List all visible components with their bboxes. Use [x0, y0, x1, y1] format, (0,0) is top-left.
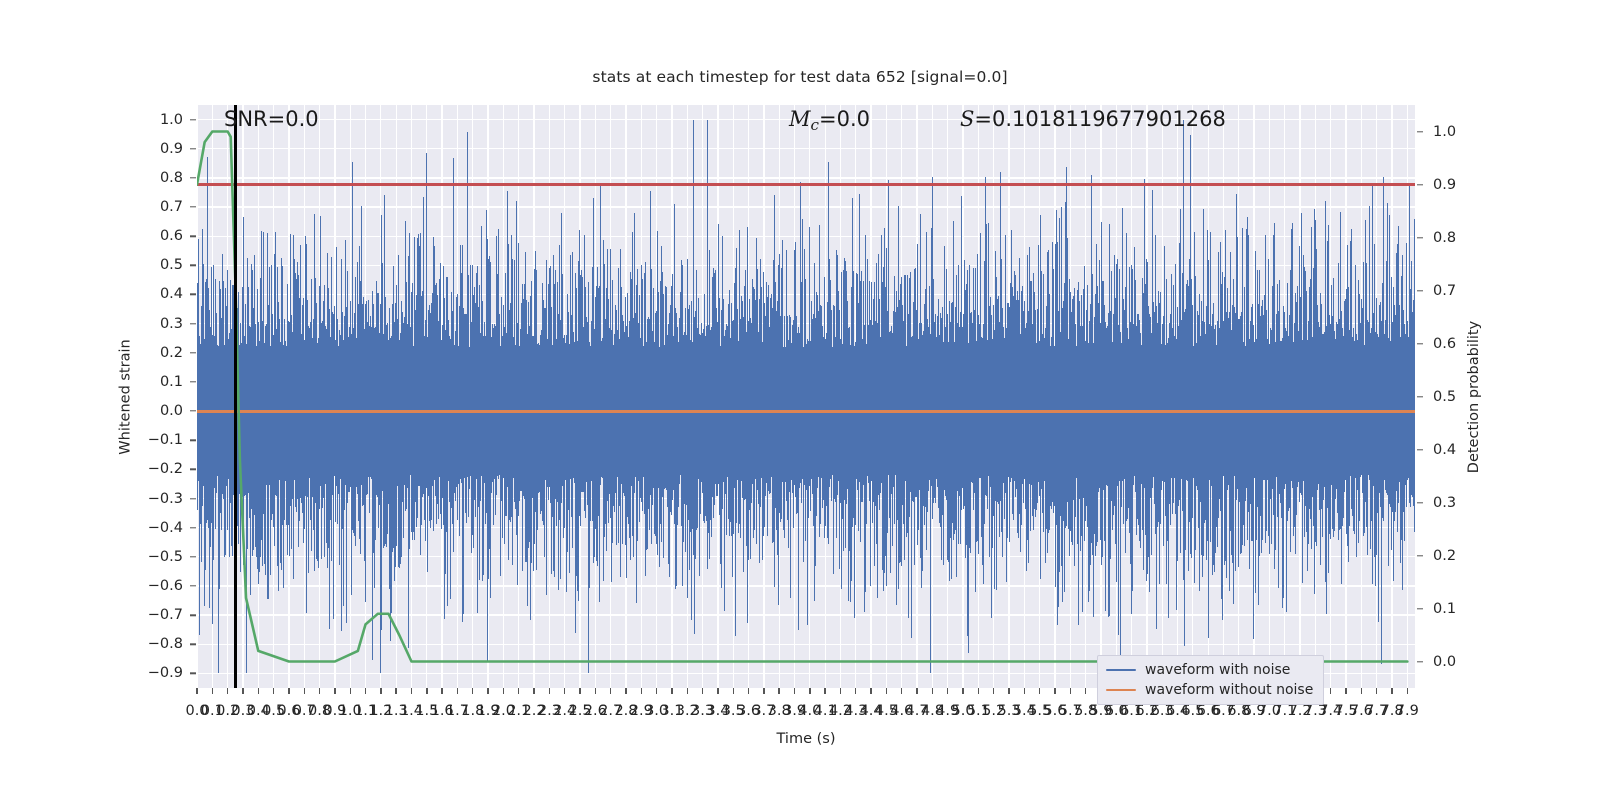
- annotation-snr: SNR=0.0: [224, 107, 319, 131]
- x-axis-tick-mark: [763, 688, 764, 694]
- y-axis-right-tick-label: 0.6: [1433, 336, 1493, 352]
- y-axis-left-tick-label: 0.1: [123, 374, 183, 390]
- x-axis-tick-mark: [947, 688, 948, 694]
- y-axis-left-tick-mark: [190, 206, 196, 207]
- annotation-snr-value: 0.0: [285, 107, 318, 131]
- x-axis-tick-mark: [656, 688, 657, 694]
- y-axis-left-tick-mark: [190, 556, 196, 557]
- y-axis-left-tick-label: −0.3: [123, 491, 183, 507]
- y-axis-left-tick-mark: [190, 119, 196, 120]
- y-axis-right-tick-label: 0.9: [1433, 177, 1493, 193]
- x-axis-tick-mark: [472, 688, 473, 694]
- x-axis-tick-mark: [564, 688, 565, 694]
- x-axis-tick-mark: [870, 688, 871, 694]
- y-axis-right-tick-mark: [1417, 661, 1423, 662]
- x-axis-tick-mark: [625, 688, 626, 694]
- y-axis-left-tick-mark: [190, 148, 196, 149]
- x-axis-tick-mark: [901, 688, 902, 694]
- x-axis-tick-mark: [533, 688, 534, 694]
- y-axis-left-tick-label: 0.7: [123, 199, 183, 215]
- x-axis-tick-mark: [962, 688, 963, 694]
- x-axis-tick-mark: [258, 688, 259, 694]
- y-axis-right-tick-mark: [1417, 290, 1423, 291]
- y-axis-left-tick-mark: [190, 498, 196, 499]
- y-axis-right-tick-label: 0.4: [1433, 442, 1493, 458]
- y-axis-left-tick-mark: [190, 614, 196, 615]
- x-axis-tick-mark: [1330, 688, 1331, 694]
- y-axis-right-tick-mark: [1417, 449, 1423, 450]
- y-axis-left-tick-label: 0.9: [123, 141, 183, 157]
- x-axis-tick-mark: [932, 688, 933, 694]
- plot-area: SNR=0.0 Mc=0.0 S=0.1018119677901268: [197, 105, 1415, 688]
- x-axis-tick-mark: [426, 688, 427, 694]
- y-axis-left-tick-label: −0.6: [123, 578, 183, 594]
- y-axis-left-tick-label: 0.3: [123, 316, 183, 332]
- x-axis-tick-mark: [1376, 688, 1377, 694]
- merger-time-marker-line: [234, 105, 237, 688]
- x-axis-tick-mark: [242, 688, 243, 694]
- x-axis-tick-mark: [993, 688, 994, 694]
- legend-item-label: waveform without noise: [1145, 682, 1313, 698]
- x-axis-tick-mark: [671, 688, 672, 694]
- x-axis-tick-mark: [487, 688, 488, 694]
- y-axis-left-tick-mark: [190, 294, 196, 295]
- page-title: stats at each timestep for test data 652…: [0, 68, 1600, 86]
- legend-item-label: waveform with noise: [1145, 662, 1290, 678]
- annotation-mc-equals: =: [819, 107, 837, 131]
- y-axis-right-tick-label: 0.1: [1433, 601, 1493, 617]
- y-axis-left-tick-mark: [190, 527, 196, 528]
- x-axis-tick-mark: [227, 688, 228, 694]
- legend-item[interactable]: waveform with noise: [1106, 662, 1313, 678]
- legend-item[interactable]: waveform without noise: [1106, 682, 1313, 698]
- x-axis-tick-mark: [610, 688, 611, 694]
- x-axis-tick-mark: [687, 688, 688, 694]
- x-axis-tick-mark: [1024, 688, 1025, 694]
- figure-canvas: stats at each timestep for test data 652…: [0, 0, 1600, 800]
- y-axis-left-tick-label: 1.0: [123, 112, 183, 128]
- y-axis-right-tick-mark: [1417, 131, 1423, 132]
- y-axis-left-tick-label: −0.4: [123, 520, 183, 536]
- x-axis-tick-mark: [595, 688, 596, 694]
- x-axis-tick-mark: [855, 688, 856, 694]
- x-axis-tick-mark: [380, 688, 381, 694]
- y-axis-left-tick-mark: [190, 323, 196, 324]
- annotation-chirp-mass: Mc=0.0: [789, 107, 870, 134]
- annotation-mc-value: 0.0: [837, 107, 870, 131]
- legend-color-swatch: [1106, 689, 1136, 692]
- x-axis-tick-mark: [518, 688, 519, 694]
- x-axis-tick-mark: [1345, 688, 1346, 694]
- y-axis-left-tick-label: −0.7: [123, 607, 183, 623]
- y-axis-right-tick-label: 0.3: [1433, 495, 1493, 511]
- y-axis-right-tick-mark: [1417, 343, 1423, 344]
- y-axis-left-tick-label: 0.2: [123, 345, 183, 361]
- annotation-mc-symbol: M: [789, 107, 811, 131]
- y-axis-left-tick-label: 0.8: [123, 170, 183, 186]
- y-axis-left-tick-label: −0.1: [123, 432, 183, 448]
- x-axis-tick-mark: [717, 688, 718, 694]
- x-axis-tick-mark: [365, 688, 366, 694]
- x-axis-tick-mark: [304, 688, 305, 694]
- y-axis-left-tick-mark: [190, 410, 196, 411]
- y-axis-right-tick-label: 0.7: [1433, 283, 1493, 299]
- x-axis-tick-mark: [1008, 688, 1009, 694]
- y-axis-right-tick-label: 0.2: [1433, 548, 1493, 564]
- x-axis-tick-mark: [778, 688, 779, 694]
- annotation-s-symbol: S: [960, 107, 974, 131]
- y-axis-left-tick-label: 0.4: [123, 286, 183, 302]
- legend-color-swatch: [1106, 669, 1136, 672]
- y-axis-left-tick-mark: [190, 440, 196, 441]
- x-axis-tick-mark: [457, 688, 458, 694]
- y-axis-left-tick-label: −0.2: [123, 461, 183, 477]
- y-axis-left-tick-mark: [190, 585, 196, 586]
- y-axis-left-tick-label: −0.9: [123, 665, 183, 681]
- x-axis-tick-mark: [395, 688, 396, 694]
- y-axis-left-tick-mark: [190, 352, 196, 353]
- y-axis-left-tick-mark: [190, 644, 196, 645]
- x-axis-tick-mark: [288, 688, 289, 694]
- y-axis-right-tick-mark: [1417, 555, 1423, 556]
- y-axis-left-tick-mark: [190, 177, 196, 178]
- y-axis-right-tick-label: 0.0: [1433, 654, 1493, 670]
- x-axis-tick-mark: [334, 688, 335, 694]
- y-axis-left-tick-label: −0.8: [123, 636, 183, 652]
- x-axis-tick-label: 7.9: [1396, 703, 1419, 719]
- x-axis-tick-mark: [549, 688, 550, 694]
- x-axis-tick-mark: [733, 688, 734, 694]
- y-axis-left-label: Whitened strain: [115, 105, 137, 688]
- y-axis-right-tick-label: 1.0: [1433, 124, 1493, 140]
- y-axis-left-tick-mark: [190, 381, 196, 382]
- y-axis-left-tick-label: 0.6: [123, 228, 183, 244]
- x-axis-tick-mark: [794, 688, 795, 694]
- annotation-snr-label: SNR=: [224, 107, 285, 131]
- x-axis-tick-mark: [1070, 688, 1071, 694]
- annotation-s-equals: =: [974, 107, 992, 131]
- x-axis-tick-mark: [916, 688, 917, 694]
- y-axis-right-tick-mark: [1417, 184, 1423, 185]
- y-axis-right-tick-mark: [1417, 237, 1423, 238]
- annotation-mc-subscript: c: [811, 116, 819, 134]
- x-axis-tick-mark: [350, 688, 351, 694]
- y-axis-right-tick-label: 0.5: [1433, 389, 1493, 405]
- x-axis-tick-mark: [1391, 688, 1392, 694]
- y-axis-right-tick-mark: [1417, 502, 1423, 503]
- y-axis-left-tick-mark: [190, 235, 196, 236]
- y-axis-left-tick-mark: [190, 673, 196, 674]
- x-axis-tick-mark: [579, 688, 580, 694]
- x-axis-tick-mark: [1039, 688, 1040, 694]
- y-axis-right-tick-label: 0.8: [1433, 230, 1493, 246]
- x-axis-tick-mark: [1085, 688, 1086, 694]
- x-axis-tick-mark: [503, 688, 504, 694]
- x-axis-tick-mark: [212, 688, 213, 694]
- annotation-s-value: 0.1018119677901268: [992, 107, 1226, 131]
- y-axis-left-tick-label: −0.5: [123, 549, 183, 565]
- y-axis-left-tick-mark: [190, 469, 196, 470]
- x-axis-tick-mark: [441, 688, 442, 694]
- y-axis-left-tick-label: 0.0: [123, 403, 183, 419]
- x-axis-tick-mark: [702, 688, 703, 694]
- x-axis-tick-mark: [196, 688, 197, 694]
- x-axis-tick-mark: [641, 688, 642, 694]
- x-axis-tick-mark: [886, 688, 887, 694]
- annotation-score: S=0.1018119677901268: [960, 107, 1226, 131]
- y-axis-right-tick-mark: [1417, 608, 1423, 609]
- x-axis-tick-mark: [748, 688, 749, 694]
- x-axis-label: Time (s): [197, 731, 1415, 747]
- x-axis-tick-mark: [1361, 688, 1362, 694]
- x-axis-tick-mark: [1054, 688, 1055, 694]
- x-axis-tick-mark: [1407, 688, 1408, 694]
- y-axis-left-tick-label: 0.5: [123, 257, 183, 273]
- x-axis-tick-mark: [319, 688, 320, 694]
- x-axis-tick-mark: [273, 688, 274, 694]
- x-axis-tick-mark: [824, 688, 825, 694]
- x-axis-tick-mark: [809, 688, 810, 694]
- y-axis-right-tick-mark: [1417, 396, 1423, 397]
- y-axis-left-tick-mark: [190, 265, 196, 266]
- x-axis-tick-mark: [978, 688, 979, 694]
- legend[interactable]: waveform with noisewaveform without nois…: [1097, 655, 1324, 705]
- marker-layer: [197, 105, 1415, 688]
- x-axis-tick-mark: [411, 688, 412, 694]
- x-axis-tick-mark: [840, 688, 841, 694]
